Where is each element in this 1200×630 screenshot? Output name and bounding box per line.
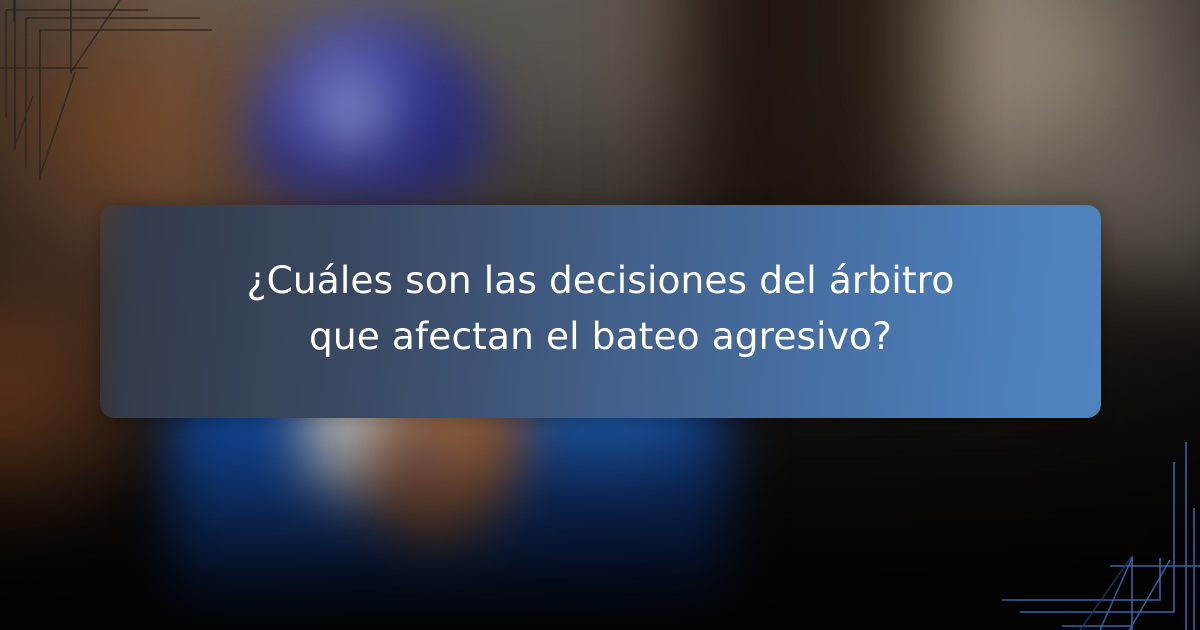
question-text: ¿Cuáles son las decisiones del árbitro q… [236, 253, 966, 363]
share-card-canvas: ¿Cuáles son las decisiones del árbitro q… [0, 0, 1200, 630]
question-card: ¿Cuáles son las decisiones del árbitro q… [100, 205, 1101, 418]
